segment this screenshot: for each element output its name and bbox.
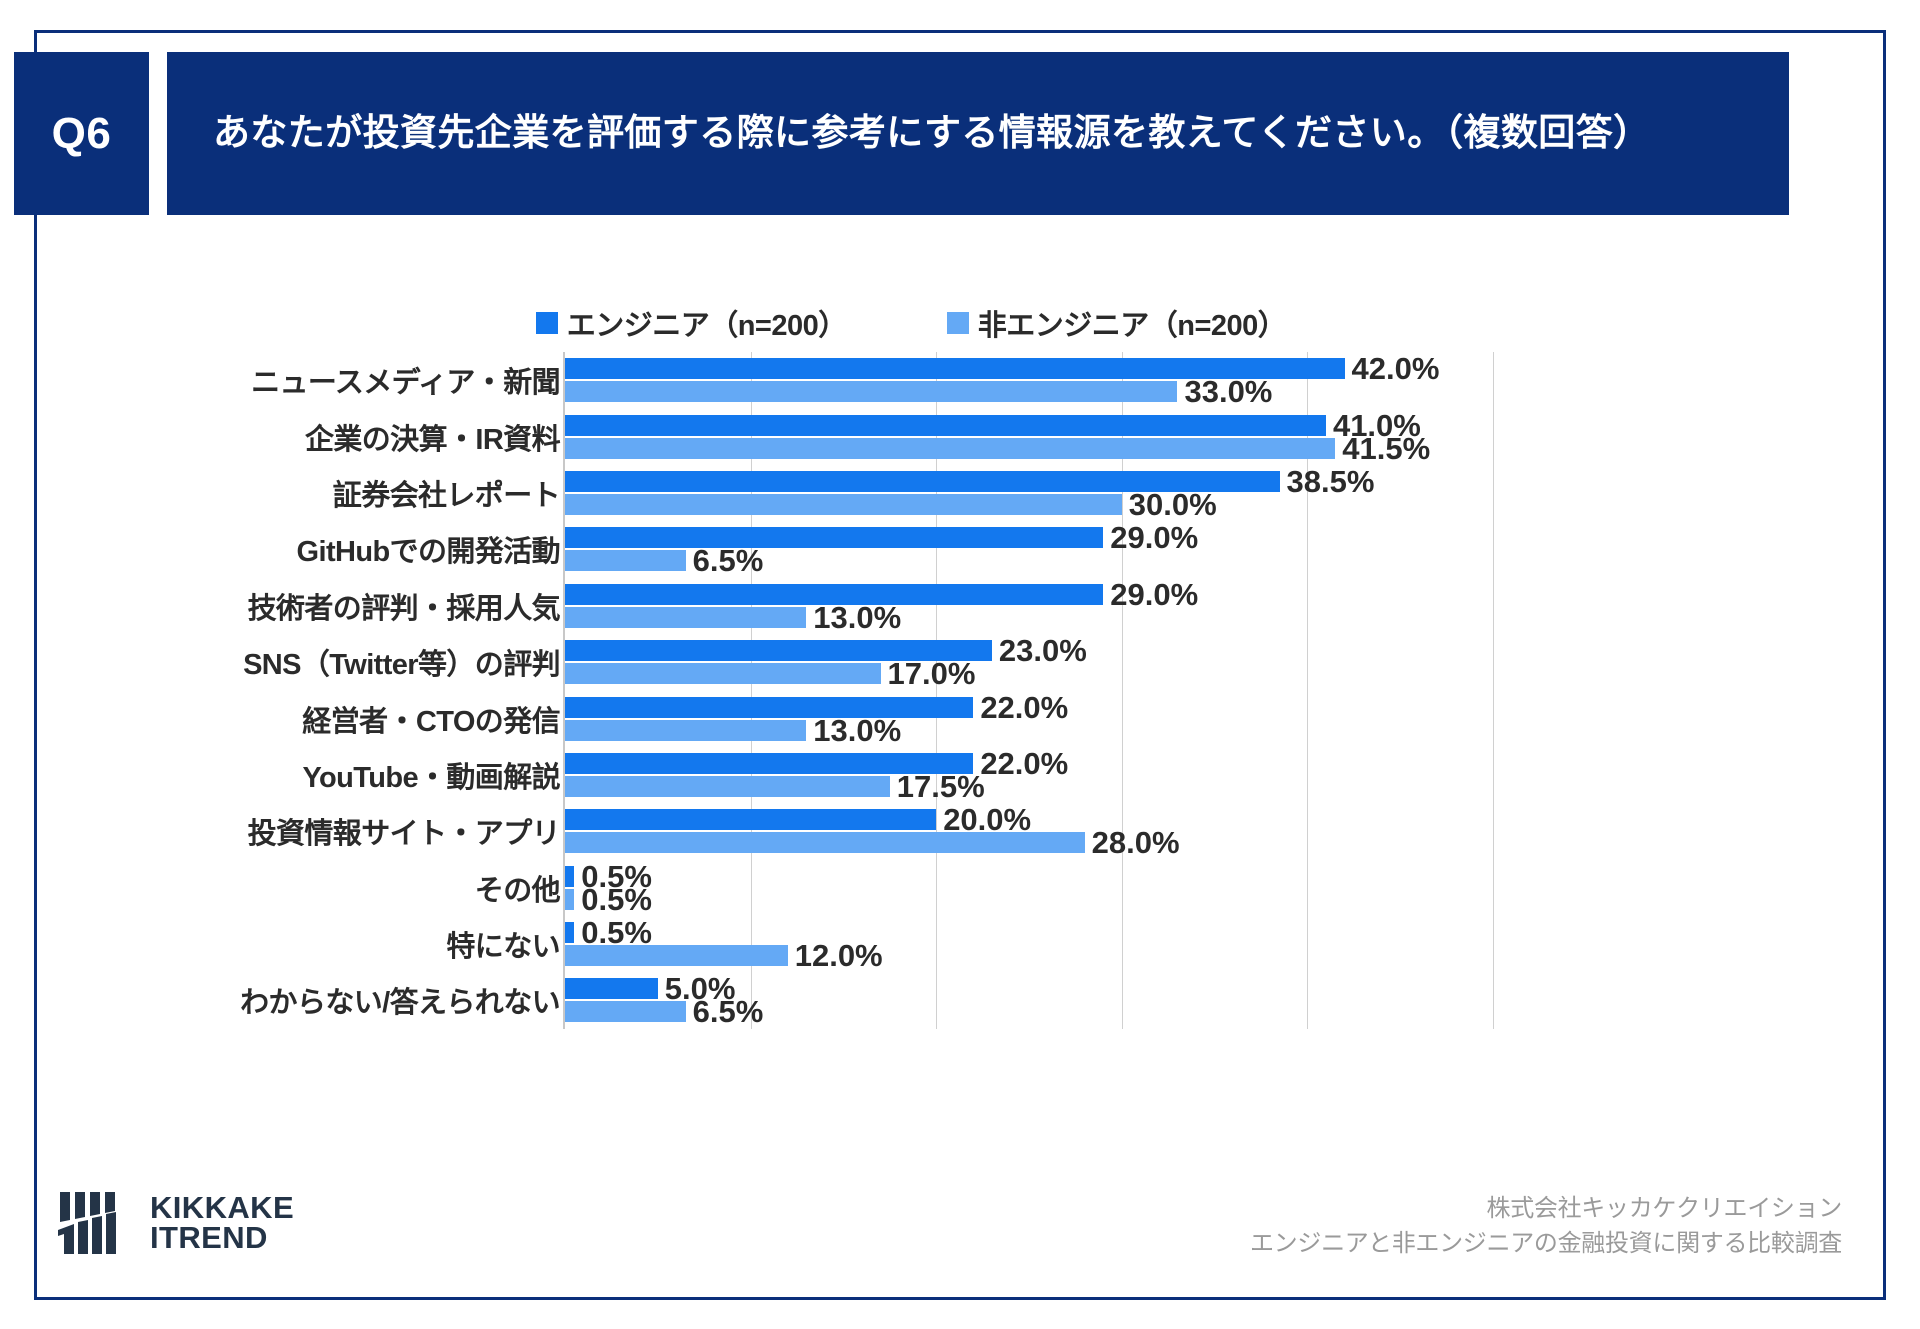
- category-label: わからない/答えられない: [240, 979, 560, 1021]
- bar-row: 0.5%: [565, 922, 1491, 943]
- bar-value-label: 17.0%: [888, 658, 976, 689]
- bar-group: 29.0%13.0%: [565, 578, 1491, 634]
- bar[interactable]: [565, 438, 1335, 459]
- bar-group: 22.0%17.5%: [565, 747, 1491, 803]
- bar-row: 20.0%: [565, 809, 1491, 830]
- category-label-row: 証券会社レポート: [130, 465, 560, 521]
- bar-value-label: 0.5%: [581, 917, 652, 948]
- bar-value-label: 29.0%: [1110, 522, 1198, 553]
- bar-value-label: 23.0%: [999, 635, 1087, 666]
- category-label: GitHubでの開発活動: [297, 528, 560, 570]
- category-label-row: 特にない: [130, 916, 560, 972]
- logo-line-1: KIKKAKE: [150, 1193, 294, 1223]
- bar[interactable]: [565, 607, 806, 628]
- category-label-row: YouTube・動画解説: [130, 747, 560, 803]
- category-label: 企業の決算・IR資料: [305, 416, 560, 458]
- bar-value-label: 13.0%: [813, 602, 901, 633]
- bar-row: 13.0%: [565, 607, 1491, 628]
- bar[interactable]: [565, 866, 574, 887]
- bar-value-label: 28.0%: [1092, 827, 1180, 858]
- bar[interactable]: [565, 809, 936, 830]
- category-label-row: SNS（Twitter等）の評判: [130, 634, 560, 690]
- category-label: ニュースメディア・新聞: [251, 359, 560, 401]
- bar[interactable]: [565, 697, 973, 718]
- bar-row: 29.0%: [565, 584, 1491, 605]
- category-label: 経営者・CTOの発信: [302, 698, 560, 740]
- bar[interactable]: [565, 381, 1177, 402]
- question-number-badge: Q6: [14, 52, 149, 215]
- category-label-row: 投資情報サイト・アプリ: [130, 803, 560, 859]
- bar-group: 23.0%17.0%: [565, 634, 1491, 690]
- bar[interactable]: [565, 720, 806, 741]
- logo-line-2: ITREND: [150, 1223, 294, 1253]
- bar-row: 12.0%: [565, 945, 1491, 966]
- category-label-row: 経営者・CTOの発信: [130, 690, 560, 746]
- category-label: YouTube・動画解説: [302, 754, 560, 796]
- bar-value-label: 0.5%: [581, 884, 652, 915]
- plot-area: 42.0%33.0%41.0%41.5%38.5%30.0%29.0%6.5%2…: [563, 352, 1491, 1029]
- bar-value-label: 12.0%: [795, 940, 883, 971]
- category-label-row: 技術者の評判・採用人気: [130, 578, 560, 634]
- bar-value-label: 29.0%: [1110, 579, 1198, 610]
- bar-value-label: 6.5%: [693, 996, 764, 1027]
- bar-value-label: 38.5%: [1287, 466, 1375, 497]
- bar-group: 41.0%41.5%: [565, 408, 1491, 464]
- category-label: 証券会社レポート: [333, 472, 560, 514]
- category-axis-labels: ニュースメディア・新聞企業の決算・IR資料証券会社レポートGitHubでの開発活…: [130, 352, 560, 1029]
- category-label: 技術者の評判・採用人気: [248, 585, 560, 627]
- bar[interactable]: [565, 527, 1103, 548]
- question-title-text: あなたが投資先企業を評価する際に参考にする情報源を教えてください。（複数回答）: [213, 107, 1651, 160]
- bar-group: 38.5%30.0%: [565, 465, 1491, 521]
- category-label-row: その他: [130, 860, 560, 916]
- footer-survey-name: エンジニアと非エンジニアの金融投資に関する比較調査: [1250, 1227, 1842, 1262]
- question-title-banner: あなたが投資先企業を評価する際に参考にする情報源を教えてください。（複数回答）: [167, 52, 1789, 215]
- bar-row: 0.5%: [565, 866, 1491, 887]
- bar-row: 22.0%: [565, 753, 1491, 774]
- bar-row: 0.5%: [565, 889, 1491, 910]
- category-label-row: ニュースメディア・新聞: [130, 352, 560, 408]
- footer-company: 株式会社キッカケクリエイション: [1250, 1192, 1842, 1227]
- bar-value-label: 22.0%: [980, 692, 1068, 723]
- bar-row: 6.5%: [565, 550, 1491, 571]
- bar-group: 20.0%28.0%: [565, 803, 1491, 859]
- bar-value-label: 41.5%: [1342, 433, 1430, 464]
- bar-value-label: 30.0%: [1129, 489, 1217, 520]
- bar-row: 38.5%: [565, 471, 1491, 492]
- bar-group: 0.5%12.0%: [565, 916, 1491, 972]
- bar-value-label: 17.5%: [897, 771, 985, 802]
- bar-group: 5.0%6.5%: [565, 972, 1491, 1028]
- bar[interactable]: [565, 415, 1326, 436]
- bar-group: 0.5%0.5%: [565, 860, 1491, 916]
- footer-attribution: 株式会社キッカケクリエイション エンジニアと非エンジニアの金融投資に関する比較調…: [1250, 1192, 1842, 1262]
- bar-value-label: 13.0%: [813, 715, 901, 746]
- category-label: 投資情報サイト・アプリ: [248, 810, 560, 852]
- bar-group: 29.0%6.5%: [565, 521, 1491, 577]
- brand-logo: KIKKAKE ITREND: [58, 1190, 294, 1256]
- bar[interactable]: [565, 550, 686, 571]
- bar[interactable]: [565, 889, 574, 910]
- bar[interactable]: [565, 978, 658, 999]
- bar-row: 22.0%: [565, 697, 1491, 718]
- bar[interactable]: [565, 776, 890, 797]
- bar[interactable]: [565, 922, 574, 943]
- bar-value-label: 42.0%: [1352, 353, 1440, 384]
- category-label-row: 企業の決算・IR資料: [130, 408, 560, 464]
- bar-group: 42.0%33.0%: [565, 352, 1491, 408]
- question-number-label: Q6: [52, 109, 112, 159]
- bar-value-label: 22.0%: [980, 748, 1068, 779]
- kikkake-bars-icon: [58, 1190, 136, 1256]
- bar[interactable]: [565, 494, 1122, 515]
- bar-group: 22.0%13.0%: [565, 690, 1491, 746]
- bar-value-label: 33.0%: [1184, 376, 1272, 407]
- bar-row: 23.0%: [565, 640, 1491, 661]
- category-label-row: GitHubでの開発活動: [130, 521, 560, 577]
- gridline: [1493, 352, 1494, 1029]
- category-label-row: わからない/答えられない: [130, 972, 560, 1028]
- category-label: 特にない: [446, 923, 560, 965]
- slide-root: Q6 あなたが投資先企業を評価する際に参考にする情報源を教えてください。（複数回…: [0, 0, 1920, 1329]
- bar-row: 41.5%: [565, 438, 1491, 459]
- bar[interactable]: [565, 663, 881, 684]
- bar-row: 6.5%: [565, 1001, 1491, 1022]
- bar-value-label: 20.0%: [943, 804, 1031, 835]
- category-label: SNS（Twitter等）の評判: [243, 641, 560, 683]
- bar-row: 42.0%: [565, 358, 1491, 379]
- bar-value-label: 6.5%: [693, 545, 764, 576]
- category-label: その他: [475, 867, 560, 909]
